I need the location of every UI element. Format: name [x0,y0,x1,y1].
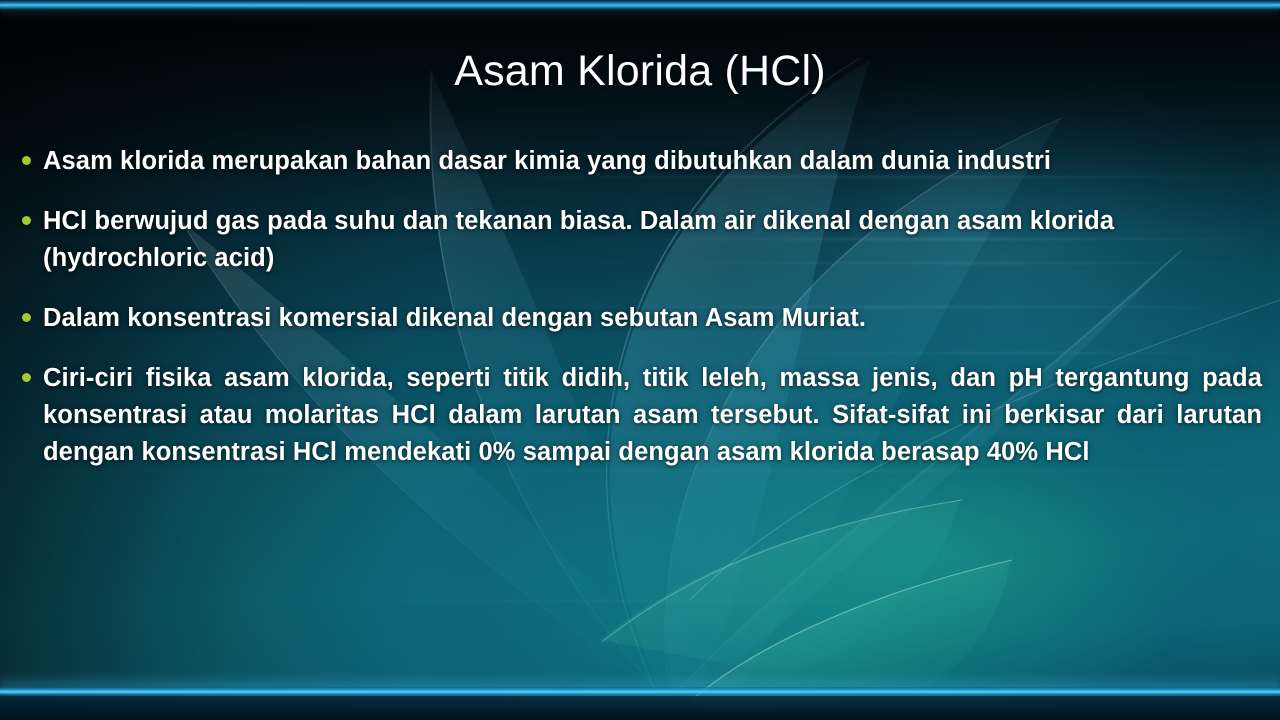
bullet-item: HCl berwujud gas pada suhu dan tekanan b… [22,203,1262,277]
bullet-dot-icon [22,373,31,382]
bullet-text: Ciri-ciri fisika asam klorida, seperti t… [43,360,1262,471]
bullet-text: Dalam konsentrasi komersial dikenal deng… [43,300,1262,337]
bullet-item: Asam klorida merupakan bahan dasar kimia… [22,143,1262,180]
bullet-dot-icon [22,216,31,225]
bullet-list: Asam klorida merupakan bahan dasar kimia… [22,143,1262,471]
bullet-text: Asam klorida merupakan bahan dasar kimia… [43,143,1262,180]
bullet-item: Dalam konsentrasi komersial dikenal deng… [22,300,1262,337]
slide-title: Asam Klorida (HCl) [0,47,1280,96]
slide-content: Asam Klorida (HCl) Asam klorida merupaka… [0,0,1280,720]
bullet-text: HCl berwujud gas pada suhu dan tekanan b… [43,203,1262,277]
bullet-item: Ciri-ciri fisika asam klorida, seperti t… [22,360,1262,471]
presentation-slide: Asam Klorida (HCl) Asam klorida merupaka… [0,0,1280,720]
bullet-dot-icon [22,313,31,322]
bullet-dot-icon [22,156,31,165]
